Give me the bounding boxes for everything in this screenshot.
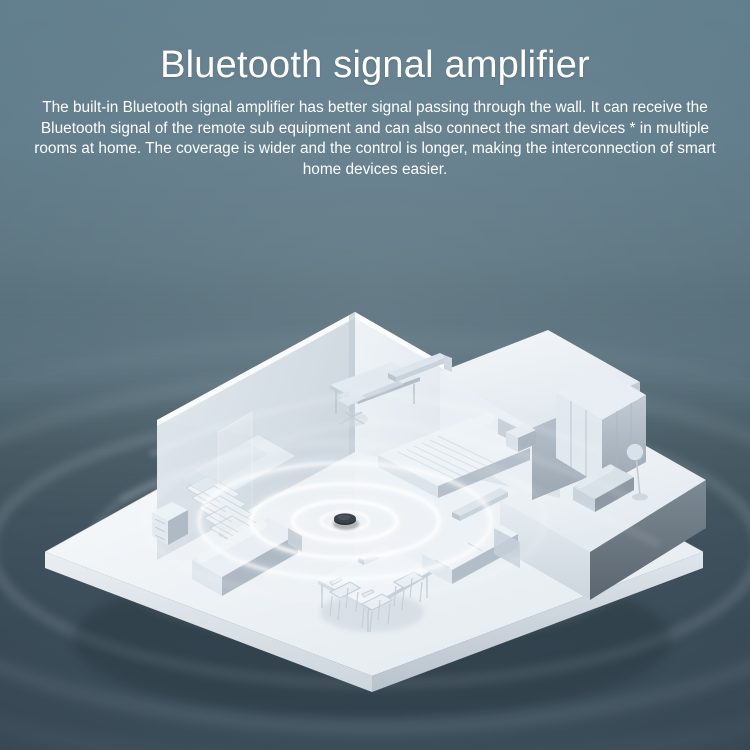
header-text-block: Bluetooth signal amplifier The built-in …	[0, 0, 750, 180]
page-description: The built-in Bluetooth signal amplifier …	[25, 98, 725, 180]
page-title: Bluetooth signal amplifier	[0, 0, 750, 84]
promo-banner: Bluetooth signal amplifier The built-in …	[0, 0, 750, 750]
